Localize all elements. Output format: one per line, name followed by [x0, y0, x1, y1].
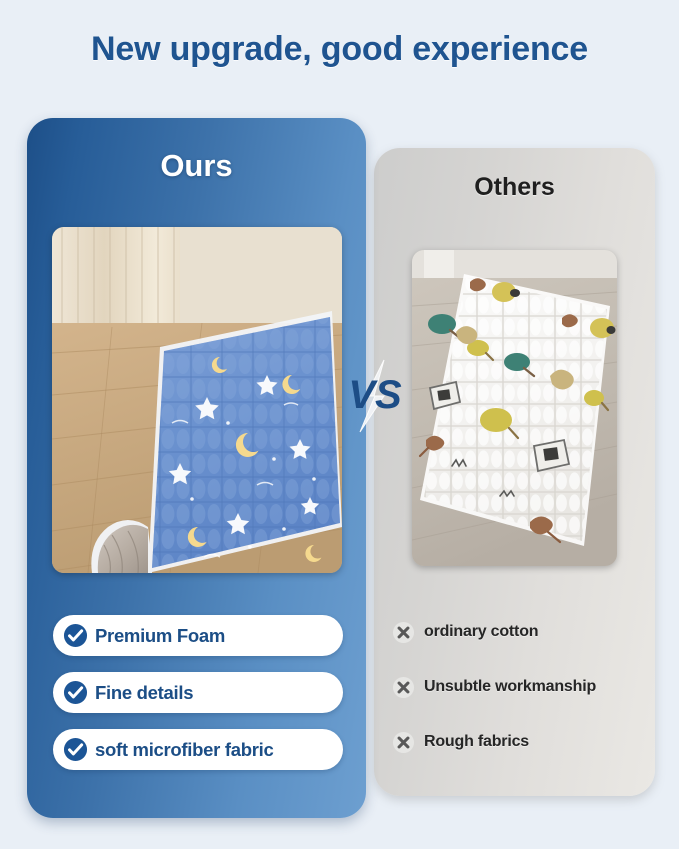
others-heading: Others — [374, 173, 655, 202]
x-circle-icon — [392, 731, 415, 754]
x-circle-icon — [392, 676, 415, 699]
ours-heading: Ours — [27, 148, 366, 184]
con-row-rough-fabrics[interactable]: Rough fabrics — [392, 728, 647, 756]
others-panel: Others — [374, 148, 655, 796]
product-photo-blue-mat — [52, 227, 342, 573]
feature-label: soft microfiber fabric — [95, 739, 273, 761]
con-label: Rough fabrics — [424, 733, 529, 751]
con-row-unsubtle-workmanship[interactable]: Unsubtle workmanship — [392, 673, 647, 701]
check-circle-icon — [63, 737, 88, 762]
feature-pill-soft-microfiber-fabric[interactable]: soft microfiber fabric — [53, 729, 343, 770]
feature-pill-premium-foam[interactable]: Premium Foam — [53, 615, 343, 656]
vs-lightning-icon: VS — [344, 366, 406, 424]
page-title: New upgrade, good experience — [0, 30, 679, 69]
check-circle-icon — [63, 680, 88, 705]
svg-text:VS: VS — [348, 373, 402, 417]
x-circle-icon — [392, 621, 415, 644]
ours-panel: Ours — [27, 118, 366, 818]
feature-pill-fine-details[interactable]: Fine details — [53, 672, 343, 713]
ours-product-photo — [52, 227, 342, 573]
con-label: ordinary cotton — [424, 623, 538, 641]
con-label: Unsubtle workmanship — [424, 678, 596, 696]
check-circle-icon — [63, 623, 88, 648]
feature-label: Fine details — [95, 682, 193, 704]
others-product-photo — [412, 250, 617, 566]
con-row-ordinary-cotton[interactable]: ordinary cotton — [392, 618, 647, 646]
product-photo-white-mat — [412, 250, 617, 566]
feature-label: Premium Foam — [95, 625, 225, 647]
vs-badge: VS — [344, 366, 406, 424]
